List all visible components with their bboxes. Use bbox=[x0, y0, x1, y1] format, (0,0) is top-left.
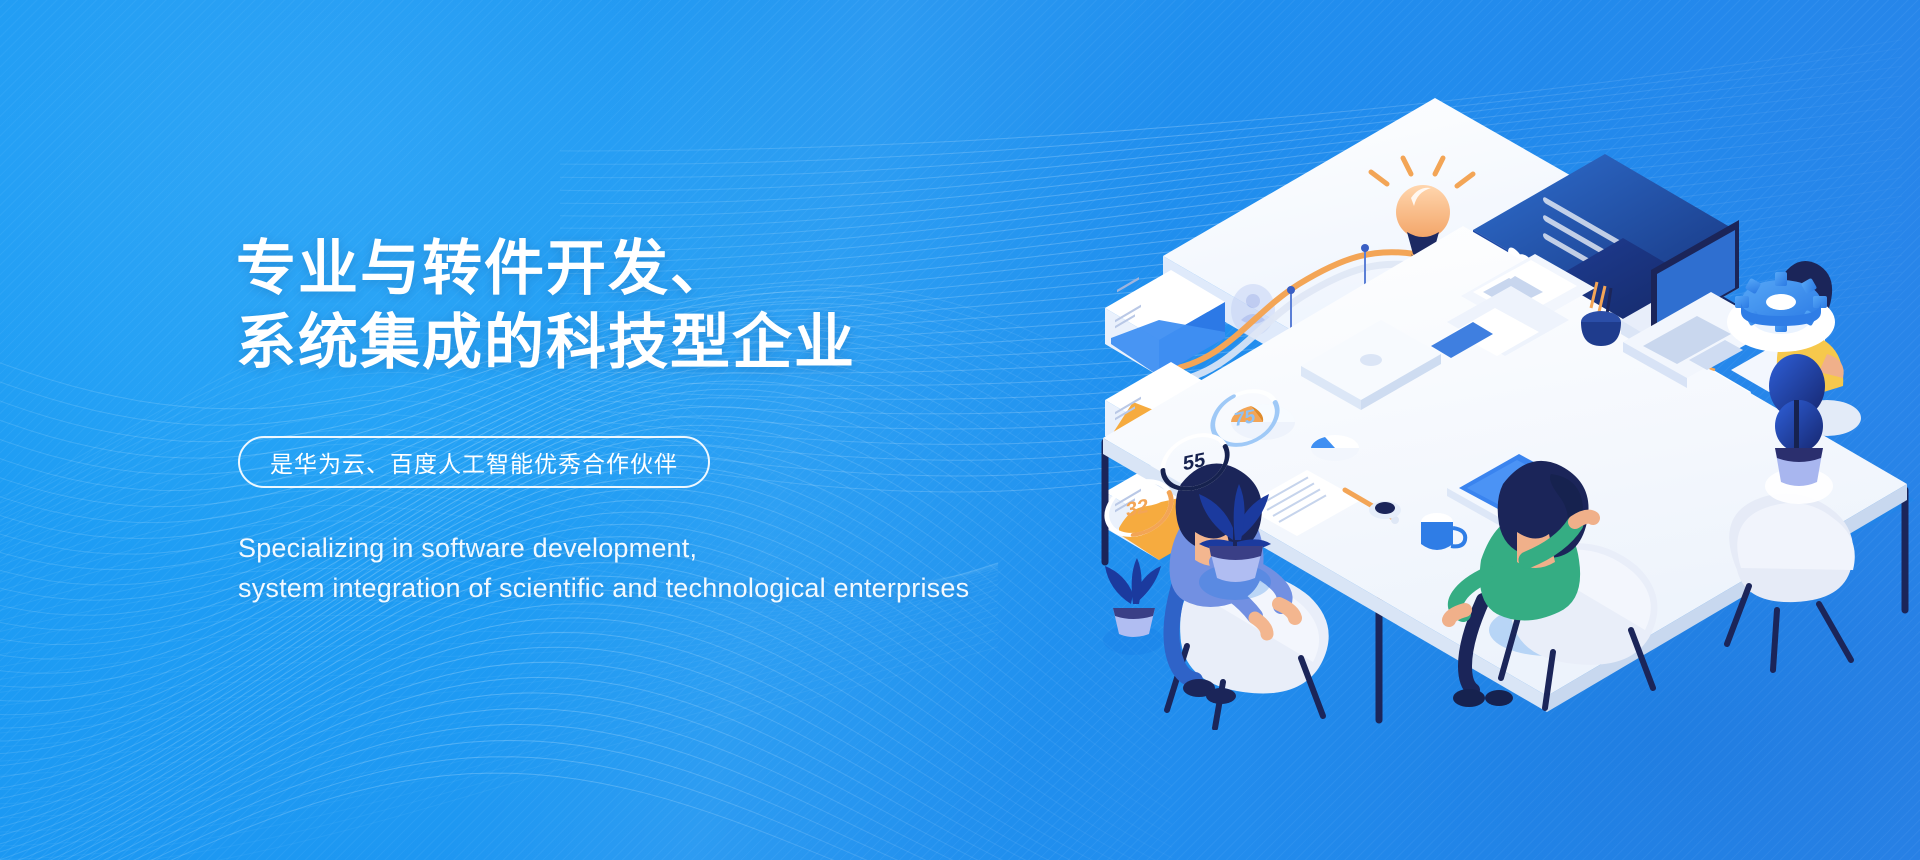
partner-badge: 是华为云、百度人工智能优秀合作伙伴 bbox=[238, 436, 710, 488]
topiary-icon bbox=[1765, 354, 1833, 504]
coaster-icon bbox=[1369, 501, 1401, 519]
partner-badge-label: 是华为云、百度人工智能优秀合作伙伴 bbox=[270, 445, 678, 479]
hero-text-column: 专业与转件开发、 系统集成的科技型企业 是华为云、百度人工智能优秀合作伙伴 Sp… bbox=[236, 0, 1176, 860]
page-title: 专业与转件开发、 系统集成的科技型企业 bbox=[236, 232, 856, 380]
hero-banner: 专业与转件开发、 系统集成的科技型企业 是华为云、百度人工智能优秀合作伙伴 Sp… bbox=[0, 0, 1920, 860]
hero-illustration: 65 123 97 81 bbox=[1075, 70, 1920, 730]
hero-subtitle: Specializing in software development, sy… bbox=[238, 528, 969, 608]
isometric-scene: 65 123 97 81 bbox=[1075, 70, 1920, 730]
chair-empty bbox=[1727, 493, 1855, 670]
